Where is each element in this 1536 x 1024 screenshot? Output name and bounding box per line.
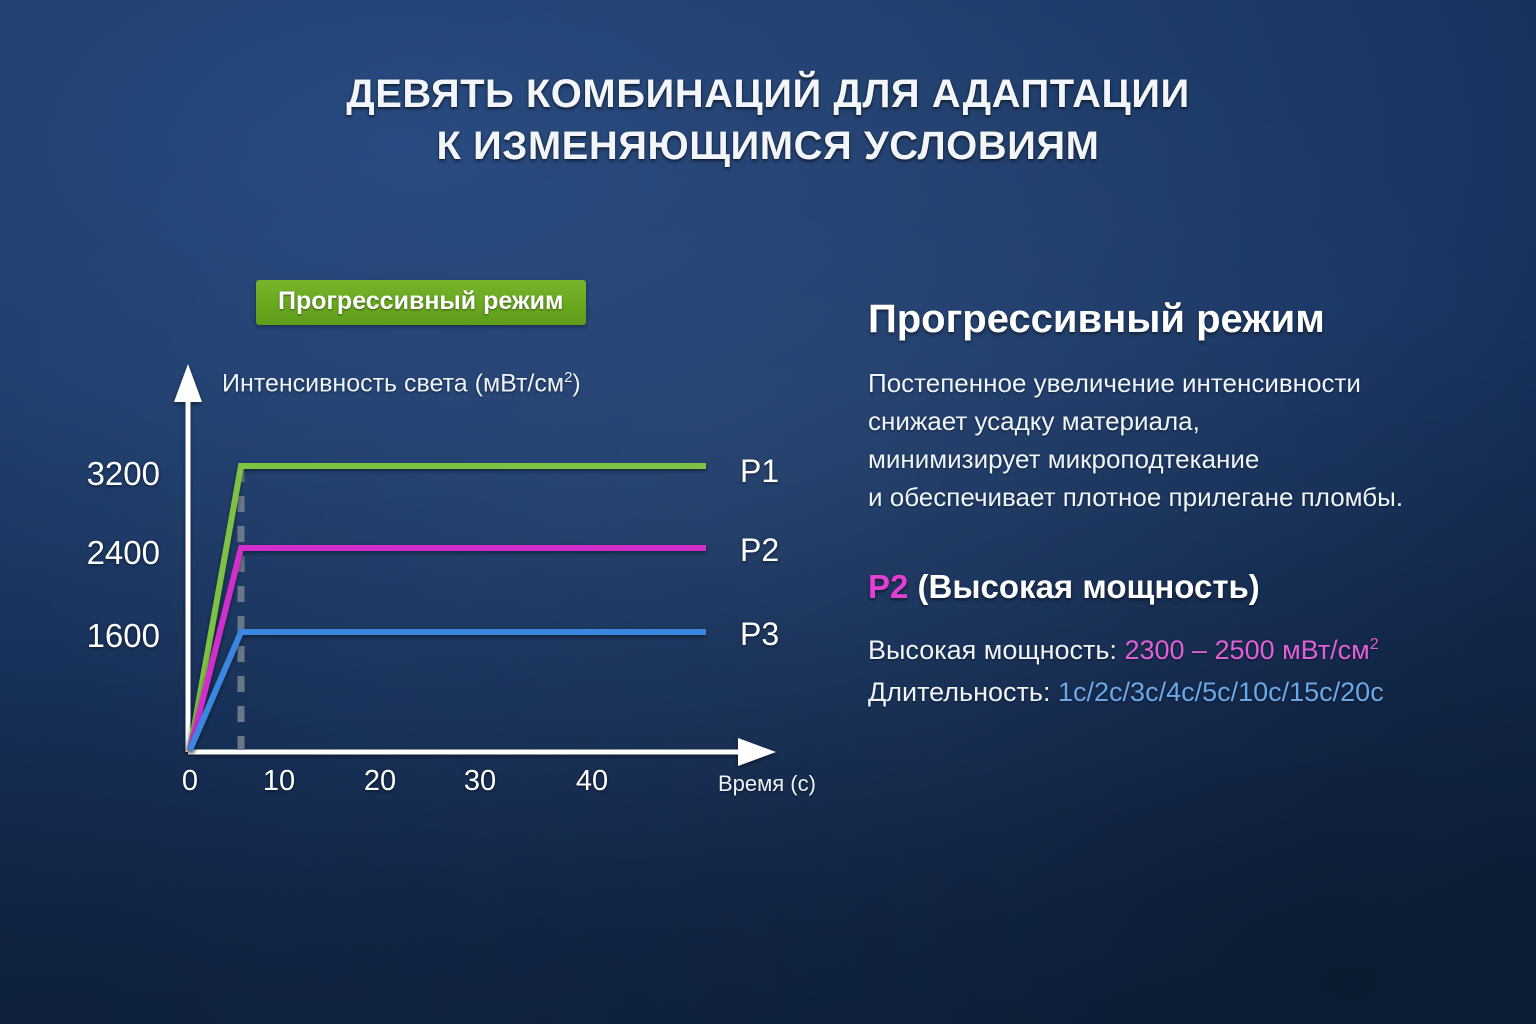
spec-power-value: 2300 – 2500 мВт/см — [1124, 635, 1369, 665]
slide-root: ДЕВЯТЬ КОМБИНАЦИЙ ДЛЯ АДАПТАЦИИ К ИЗМЕНЯ… — [0, 0, 1536, 1024]
y-axis-title-tail: ) — [572, 369, 580, 397]
series-label-p2: P2 — [740, 532, 779, 569]
series-line-p1 — [190, 466, 706, 750]
y-tick-3200: 3200 — [40, 455, 160, 493]
series-label-p1: P1 — [740, 453, 779, 490]
x-tick-10: 10 — [249, 765, 309, 798]
panel-paragraph-line-4: и обеспечивает плотное прилегане пломбы. — [868, 478, 1508, 516]
panel-paragraph-line-3: минимизирует микроподтекание — [868, 440, 1508, 478]
panel-paragraph-line-2: снижает усадку материала, — [868, 402, 1508, 440]
panel-subheading-accent: P2 — [868, 568, 908, 605]
panel-subheading: P2 (Высокая мощность) — [868, 568, 1508, 606]
mode-badge-label: Прогрессивный режим — [278, 287, 564, 315]
spec-duration: Длительность: 1с/2с/3с/4с/5с/10с/15с/20с — [868, 671, 1508, 713]
panel-heading: Прогрессивный режим — [868, 296, 1508, 342]
spec-power: Высокая мощность: 2300 – 2500 мВт/см2 — [868, 624, 1508, 671]
y-tick-1600: 1600 — [40, 617, 160, 655]
x-axis — [188, 738, 776, 766]
mode-badge: Прогрессивный режим — [256, 280, 586, 325]
y-axis-title: Интенсивность света (мВт/см2) — [222, 369, 581, 398]
spec-power-label: Высокая мощность: — [868, 635, 1117, 665]
spec-duration-label: Длительность: — [868, 677, 1051, 707]
series-line-p3 — [190, 632, 706, 750]
x-axis-title: Время (с) — [718, 771, 816, 797]
panel-subheading-rest: (Высокая мощность) — [918, 568, 1260, 605]
x-tick-40: 40 — [562, 765, 622, 798]
y-axis-title-text: Интенсивность света (мВт/см — [222, 369, 564, 397]
description-panel: Прогрессивный режим Постепенное увеличен… — [868, 296, 1508, 713]
page-title: ДЕВЯТЬ КОМБИНАЦИЙ ДЛЯ АДАПТАЦИИ К ИЗМЕНЯ… — [0, 68, 1536, 172]
spec-power-value-sup: 2 — [1370, 636, 1379, 653]
series-label-p3: P3 — [740, 616, 779, 653]
panel-paragraph-line-1: Постепенное увеличение интенсивности — [868, 364, 1508, 402]
y-tick-2400: 2400 — [40, 534, 160, 572]
x-tick-0: 0 — [160, 765, 220, 798]
spec-duration-value: 1с/2с/3с/4с/5с/10с/15с/20с — [1058, 677, 1384, 707]
x-tick-30: 30 — [450, 765, 510, 798]
x-tick-20: 20 — [350, 765, 410, 798]
series-line-p2 — [190, 548, 706, 750]
title-line-2: К ИЗМЕНЯЮЩИМСЯ УСЛОВИЯМ — [0, 120, 1536, 172]
title-line-1: ДЕВЯТЬ КОМБИНАЦИЙ ДЛЯ АДАПТАЦИИ — [0, 68, 1536, 120]
